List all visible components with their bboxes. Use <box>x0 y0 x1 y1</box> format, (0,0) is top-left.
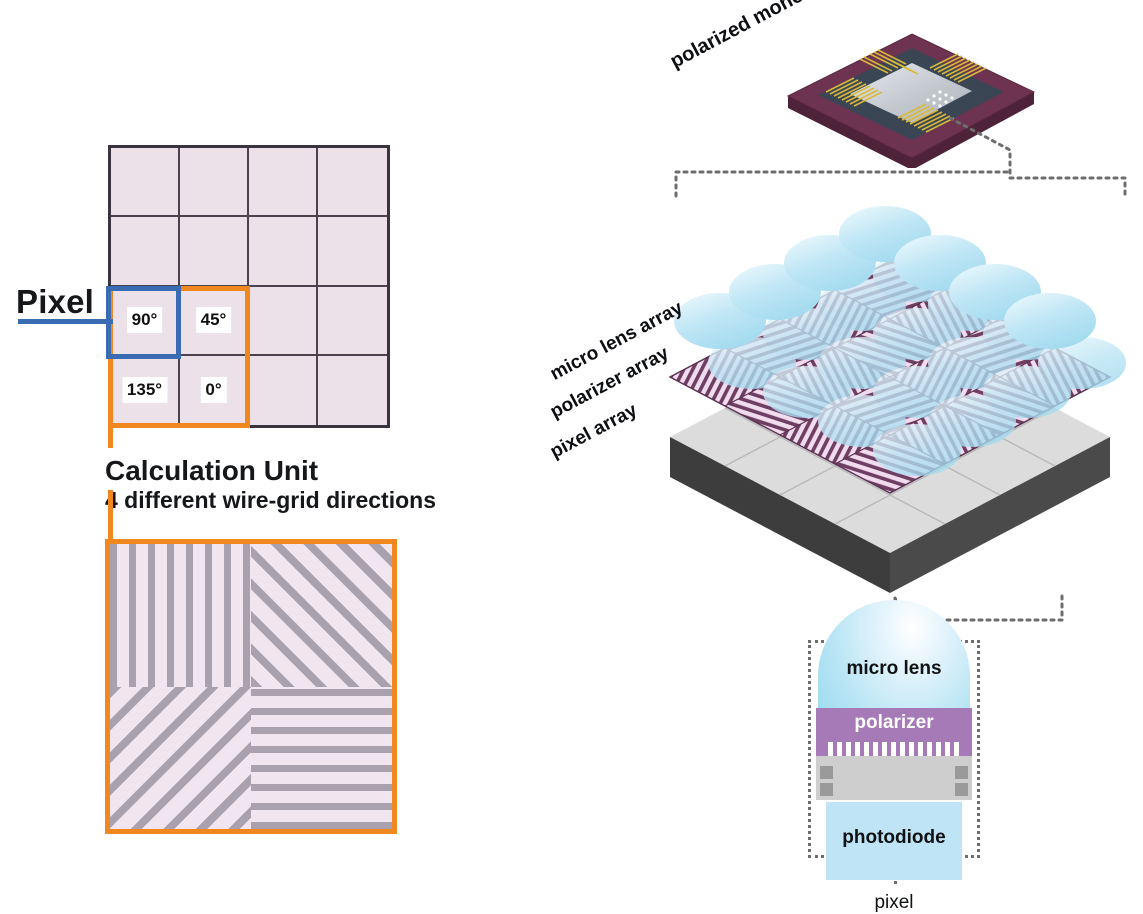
calculation-unit-stem <box>108 490 113 542</box>
micro-lens-label: micro lens <box>808 658 980 680</box>
polarized-mono-sensor-image <box>780 18 1040 168</box>
grid-cell <box>249 356 318 425</box>
calc-quadrant-135 <box>110 687 251 830</box>
via-icon <box>955 766 968 779</box>
calculation-unit-title: Calculation Unit <box>105 455 535 487</box>
metal-layer <box>816 756 972 800</box>
photodiode-label: photodiode <box>808 827 980 849</box>
via-icon <box>820 783 833 796</box>
grid-cell <box>249 148 318 217</box>
via-icon <box>820 766 833 779</box>
via-icon <box>955 783 968 796</box>
grid-cell <box>111 217 180 286</box>
calc-quadrant-90 <box>110 544 251 687</box>
wire-grid-teeth <box>828 742 960 756</box>
diagram-canvas: 90° 45° 135° 0° Pixel Calculation Unit 4… <box>0 0 1143 911</box>
pixel-cross-section: micro lens polarizer photodiode pixel <box>808 620 980 860</box>
grid-cell <box>180 217 249 286</box>
calculation-unit-caption: Calculation Unit 4 different wire-grid d… <box>105 455 535 515</box>
pixel-leader-line <box>18 319 113 324</box>
polarizer-label: polarizer <box>808 712 980 734</box>
calculation-unit-block <box>105 539 397 834</box>
grid-cell <box>111 148 180 217</box>
pixel-highlight-box <box>106 286 181 359</box>
grid-cell <box>249 217 318 286</box>
sensor-stack-3d <box>600 195 1143 595</box>
grid-cell <box>318 356 387 425</box>
calc-quadrant-45 <box>251 544 392 687</box>
grid-cell <box>318 148 387 217</box>
grid-cell <box>249 287 318 356</box>
grid-cell <box>318 217 387 286</box>
calc-quadrant-0 <box>251 687 392 830</box>
pixel-label: Pixel <box>16 283 94 321</box>
grid-cell <box>318 287 387 356</box>
grid-cell <box>180 148 249 217</box>
calculation-unit-subtitle: 4 different wire-grid directions <box>105 487 535 515</box>
calculation-unit-connector <box>108 428 113 448</box>
